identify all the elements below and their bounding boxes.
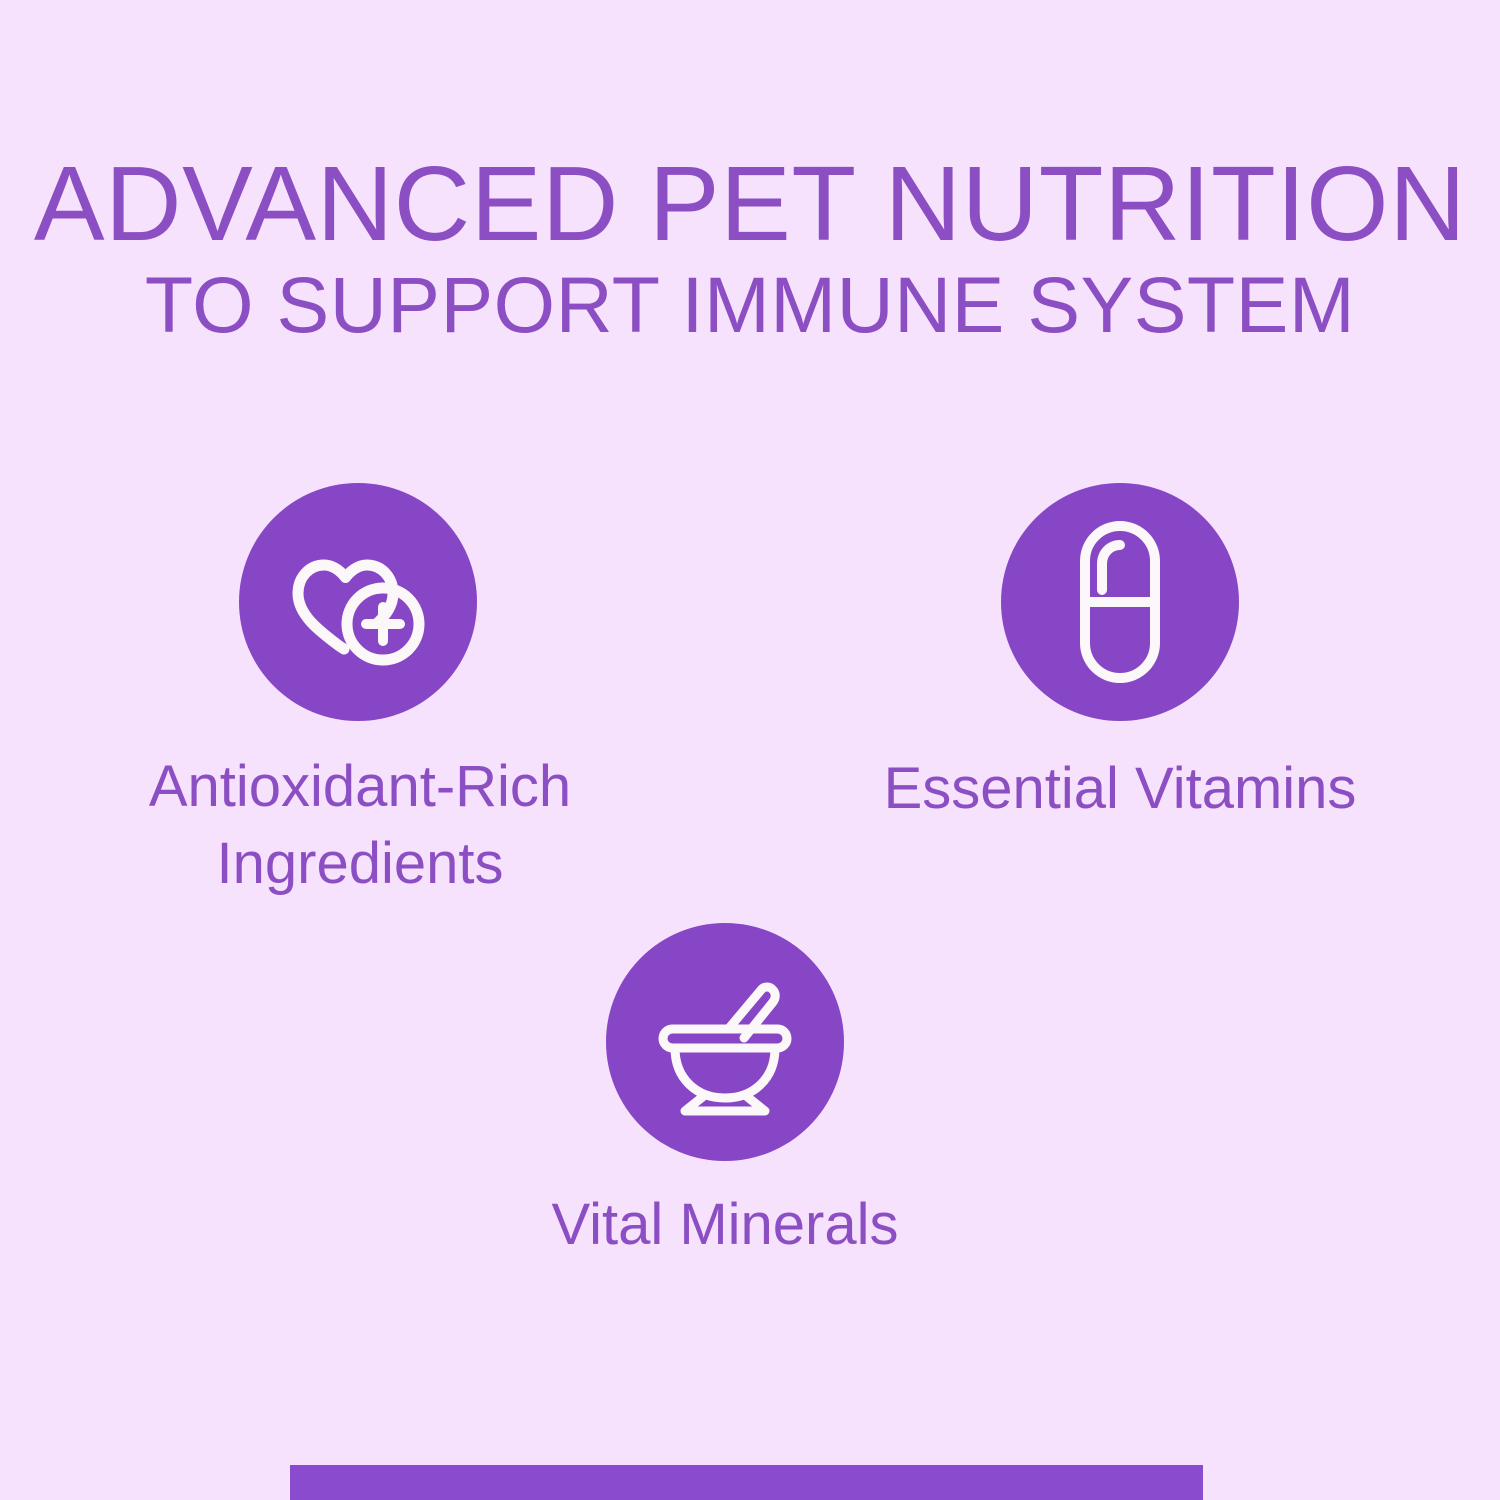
icon-badge-minerals — [606, 923, 844, 1161]
capsule-pill-icon — [1060, 517, 1180, 687]
icon-badge-vitamins — [1001, 483, 1239, 721]
headline-line-2: TO SUPPORT IMMUNE SYSTEM — [0, 258, 1500, 351]
heart-plus-icon — [283, 532, 433, 672]
headline-line-1: ADVANCED PET NUTRITION — [0, 150, 1500, 258]
feature-vital-minerals: Vital Minerals — [405, 923, 1045, 1264]
feature-antioxidant-rich-ingredients: Antioxidant-Rich Ingredients — [40, 483, 680, 902]
feature-label-antioxidant: Antioxidant-Rich Ingredients — [40, 749, 680, 902]
feature-label-minerals: Vital Minerals — [405, 1187, 1045, 1264]
headline-block: ADVANCED PET NUTRITION TO SUPPORT IMMUNE… — [0, 150, 1500, 351]
feature-essential-vitamins: Essential Vitamins — [800, 483, 1440, 828]
feature-label-vitamins: Essential Vitamins — [800, 751, 1440, 828]
infographic-canvas: ADVANCED PET NUTRITION TO SUPPORT IMMUNE… — [0, 0, 1500, 1500]
bottom-accent-bar — [290, 1465, 1203, 1500]
icon-badge-antioxidant — [239, 483, 477, 721]
mortar-pestle-icon — [645, 967, 805, 1117]
